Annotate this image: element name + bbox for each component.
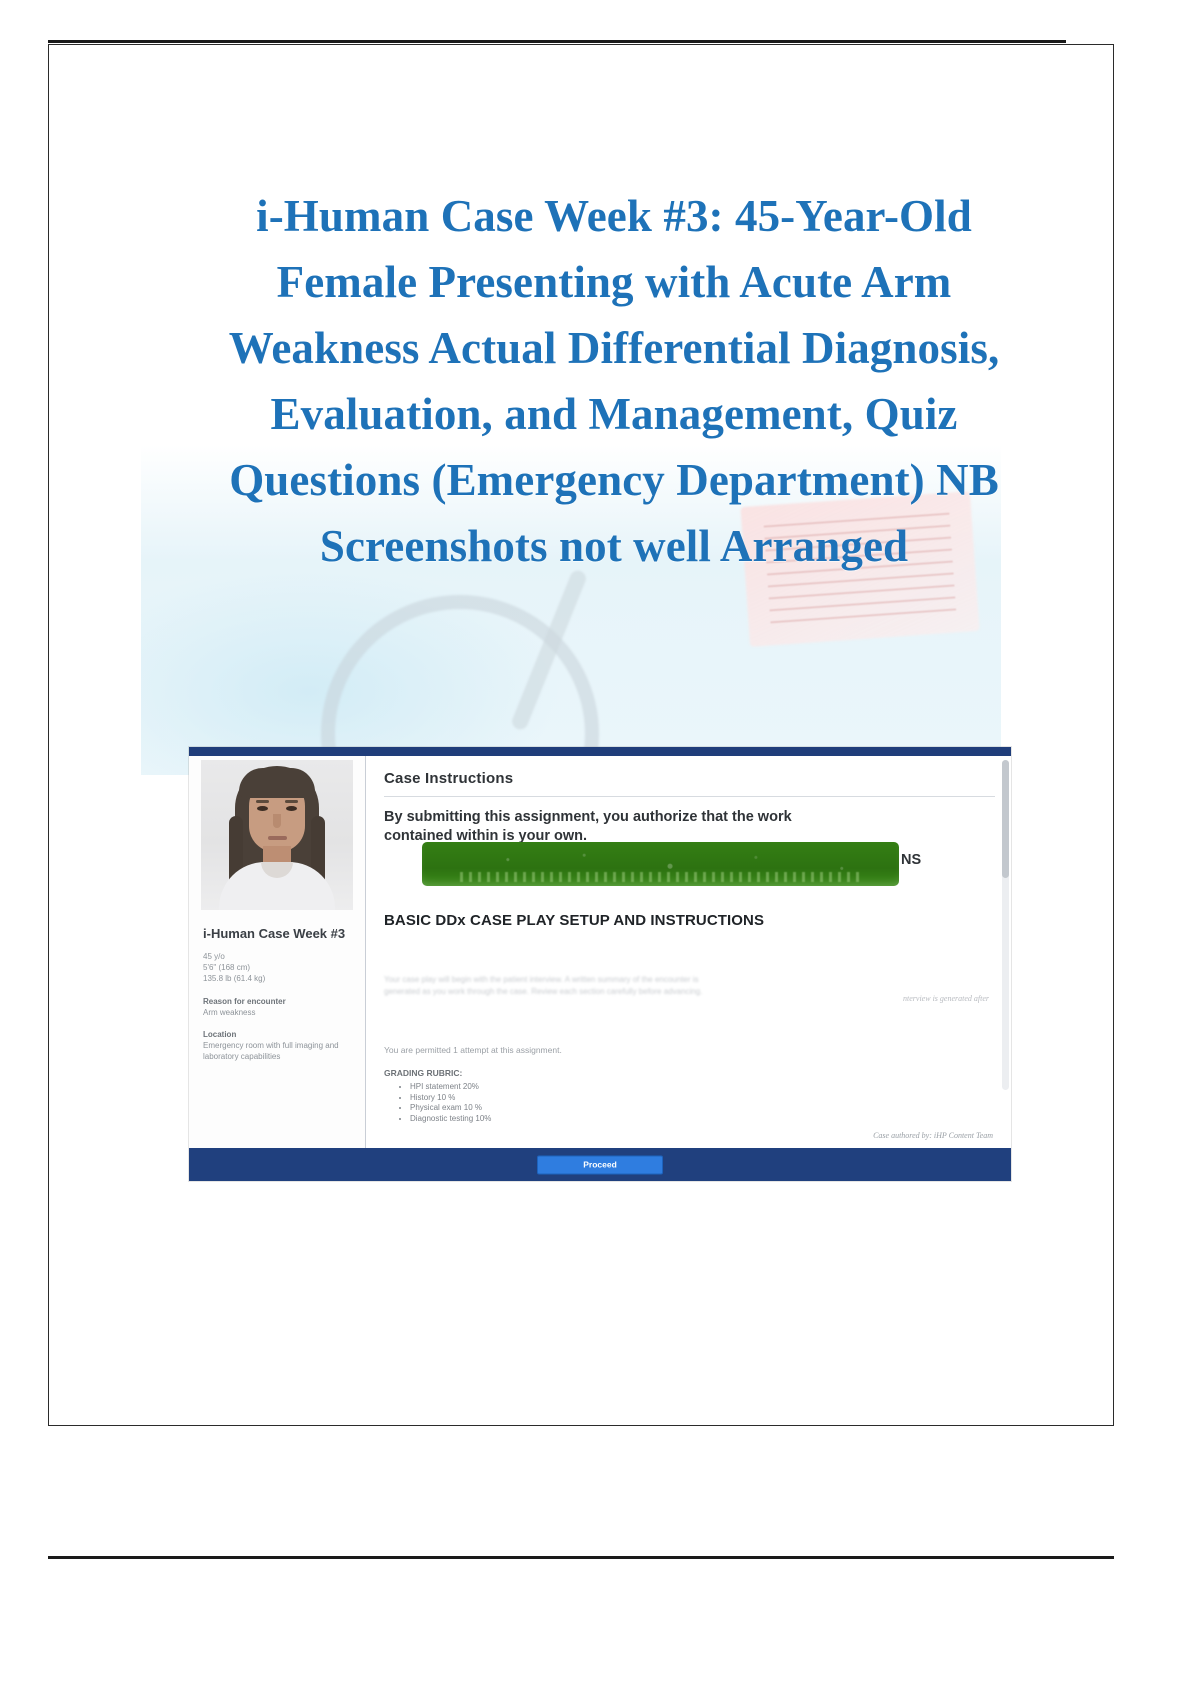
page-title: i-Human Case Week #3: 45-Year-Old Female… bbox=[144, 183, 1084, 579]
patient-sidebar: i-Human Case Week #3 45 y/o 5'6" (168 cm… bbox=[189, 756, 366, 1148]
title-line-4: Evaluation, and Management, Quiz bbox=[144, 381, 1084, 447]
patient-avatar bbox=[201, 760, 353, 910]
interview-generated-note: nterview is generated after bbox=[903, 994, 989, 1003]
avatar-eye-left bbox=[257, 806, 268, 811]
grading-rubric-title: GRADING RUBRIC: bbox=[384, 1068, 462, 1078]
basic-ddx-heading: BASIC DDx CASE PLAY SETUP AND INSTRUCTIO… bbox=[384, 912, 764, 929]
app-body: i-Human Case Week #3 45 y/o 5'6" (168 cm… bbox=[189, 756, 1011, 1148]
patient-weight: 135.8 lb (61.4 kg) bbox=[203, 973, 353, 984]
app-footer-bar: Proceed bbox=[189, 1148, 1011, 1181]
avatar-eye-right bbox=[286, 806, 297, 811]
redaction-ghost-text bbox=[460, 872, 861, 882]
authorization-line-1: By submitting this assignment, you autho… bbox=[384, 808, 995, 827]
case-instructions-title: Case Instructions bbox=[384, 770, 995, 787]
pane-scrollbar[interactable] bbox=[1002, 760, 1009, 1090]
page-rule-bottom bbox=[48, 1556, 1114, 1559]
embedded-screenshot: i-Human Case Week #3 45 y/o 5'6" (168 cm… bbox=[189, 747, 1011, 1181]
stethoscope-tube-icon bbox=[510, 568, 589, 732]
authorization-statement: By submitting this assignment, you autho… bbox=[384, 808, 995, 846]
rubric-item: Diagnostic testing 10% bbox=[410, 1114, 491, 1125]
avatar-eyebrow-right bbox=[285, 800, 298, 803]
avatar-nose bbox=[273, 814, 281, 828]
avatar-eyebrow-left bbox=[256, 800, 269, 803]
case-name-label: i-Human Case Week #3 bbox=[203, 926, 353, 942]
case-instructions-pane: Case Instructions By submitting this ass… bbox=[366, 756, 1011, 1148]
proceed-button[interactable]: Proceed bbox=[537, 1155, 663, 1174]
title-line-5: Questions (Emergency Department) NB bbox=[144, 447, 1084, 513]
green-redaction-box bbox=[422, 842, 899, 886]
pane-divider bbox=[384, 796, 995, 797]
watermark-blue-wash bbox=[141, 565, 561, 775]
location-label: Location bbox=[203, 1029, 353, 1040]
reason-for-encounter-label: Reason for encounter bbox=[203, 996, 353, 1007]
case-author-credit: Case authored by: iHP Content Team bbox=[873, 1131, 993, 1140]
rubric-item: History 10 % bbox=[410, 1093, 491, 1104]
avatar-mouth bbox=[268, 836, 287, 840]
reason-for-encounter-value: Arm weakness bbox=[203, 1007, 353, 1018]
grading-rubric-list: HPI statement 20% History 10 % Physical … bbox=[398, 1082, 491, 1124]
rubric-item: Physical exam 10 % bbox=[410, 1103, 491, 1114]
attempts-note: You are permitted 1 attempt at this assi… bbox=[384, 1045, 562, 1055]
avatar-hair-front bbox=[239, 768, 315, 798]
patient-vitals: 45 y/o 5'6" (168 cm) 135.8 lb (61.4 kg) bbox=[203, 951, 353, 984]
title-line-1: i-Human Case Week #3: 45-Year-Old bbox=[144, 183, 1084, 249]
location-value: Emergency room with full imaging and lab… bbox=[203, 1040, 353, 1062]
document-page: i-Human Case Week #3: 45-Year-Old Female… bbox=[48, 44, 1114, 1426]
page-rule-top bbox=[48, 40, 1066, 43]
app-title-bar bbox=[189, 747, 1011, 756]
faded-instruction-paragraph: Your case play will begin with the patie… bbox=[384, 974, 724, 1030]
pane-scrollbar-thumb[interactable] bbox=[1002, 760, 1009, 878]
redacted-tail-text: NS bbox=[901, 852, 921, 868]
patient-height: 5'6" (168 cm) bbox=[203, 962, 353, 973]
title-line-6: Screenshots not well Arranged bbox=[144, 513, 1084, 579]
rubric-item: HPI statement 20% bbox=[410, 1082, 491, 1093]
patient-age: 45 y/o bbox=[203, 951, 353, 962]
title-line-3: Weakness Actual Differential Diagnosis, bbox=[144, 315, 1084, 381]
title-line-2: Female Presenting with Acute Arm bbox=[144, 249, 1084, 315]
